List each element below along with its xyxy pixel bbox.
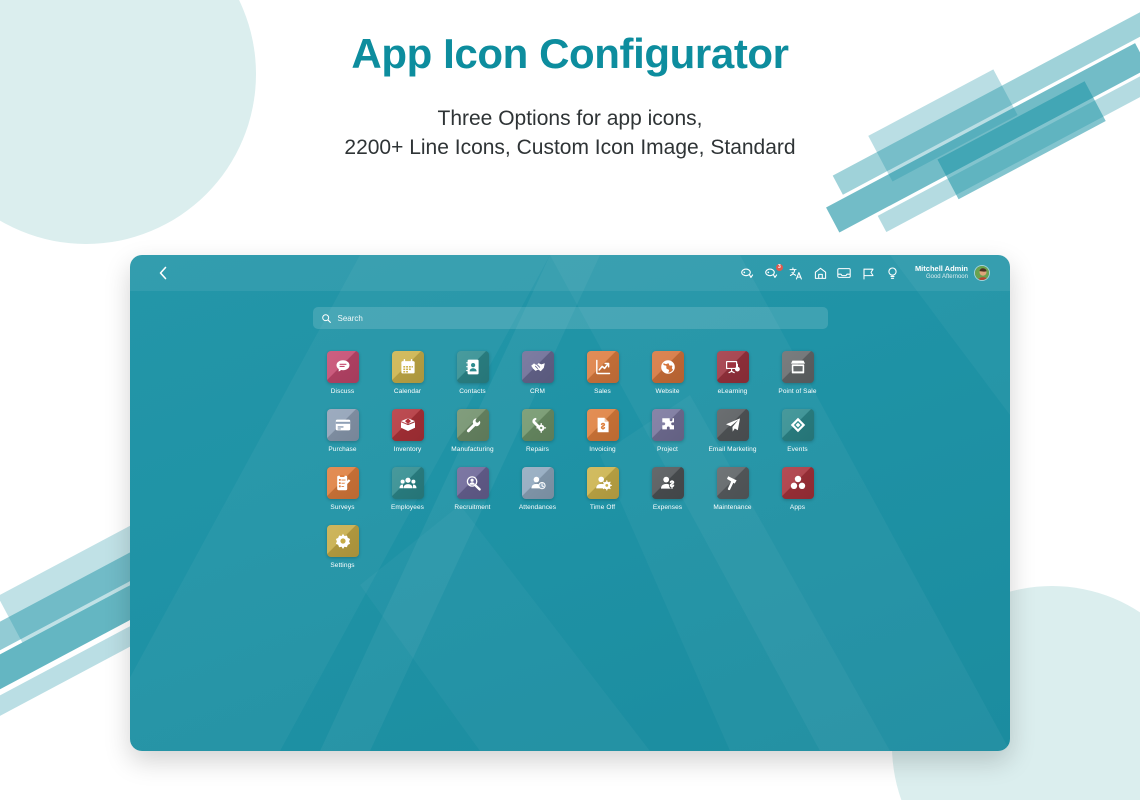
- app-crm[interactable]: CRM: [505, 351, 570, 395]
- invoicing-icon[interactable]: [587, 409, 619, 441]
- app-surveys[interactable]: Surveys: [310, 467, 375, 511]
- app-attendances[interactable]: Attendances: [505, 467, 570, 511]
- app-time-off[interactable]: Time Off: [570, 467, 635, 511]
- page-subtitle: Three Options for app icons, 2200+ Line …: [0, 104, 1140, 162]
- app-label: Calendar: [394, 388, 421, 395]
- app-employees[interactable]: Employees: [375, 467, 440, 511]
- expenses-icon[interactable]: [652, 467, 684, 499]
- app-point-of-sale[interactable]: Point of Sale: [765, 351, 830, 395]
- settings-icon[interactable]: [327, 525, 359, 557]
- app-label: Apps: [790, 504, 805, 511]
- maintenance-icon[interactable]: [717, 467, 749, 499]
- project-icon[interactable]: [652, 409, 684, 441]
- recruitment-icon[interactable]: [457, 467, 489, 499]
- app-label: Invoicing: [589, 446, 616, 453]
- avatar[interactable]: [974, 265, 990, 281]
- sales-icon[interactable]: [587, 351, 619, 383]
- app-window: 3: [130, 255, 1010, 751]
- page-root: App Icon Configurator Three Options for …: [0, 0, 1140, 800]
- app-label: Inventory: [394, 446, 422, 453]
- translate-icon[interactable]: [789, 266, 804, 281]
- app-label: Discuss: [331, 388, 354, 395]
- messages-icon[interactable]: [741, 266, 756, 281]
- purchase-icon[interactable]: [327, 409, 359, 441]
- app-contacts[interactable]: Contacts: [440, 351, 505, 395]
- signal-icon[interactable]: [861, 266, 876, 281]
- window-topbar: 3: [130, 255, 1010, 291]
- app-email-marketing[interactable]: Email Marketing: [700, 409, 765, 453]
- app-label: Settings: [330, 562, 354, 569]
- app-sales[interactable]: Sales: [570, 351, 635, 395]
- email-marketing-icon[interactable]: [717, 409, 749, 441]
- app-label: Attendances: [519, 504, 556, 511]
- app-maintenance[interactable]: Maintenance: [700, 467, 765, 511]
- crm-icon[interactable]: [522, 351, 554, 383]
- app-apps[interactable]: Apps: [765, 467, 830, 511]
- app-label: Contacts: [459, 388, 485, 395]
- app-label: Website: [655, 388, 679, 395]
- app-recruitment[interactable]: Recruitment: [440, 467, 505, 511]
- inbox-icon[interactable]: [837, 266, 852, 281]
- app-calendar[interactable]: Calendar: [375, 351, 440, 395]
- app-website[interactable]: Website: [635, 351, 700, 395]
- discuss-icon[interactable]: [327, 351, 359, 383]
- app-label: Purchase: [328, 446, 356, 453]
- app-label: Surveys: [330, 504, 354, 511]
- app-label: Recruitment: [454, 504, 490, 511]
- search-icon: [322, 314, 331, 323]
- events-icon[interactable]: [782, 409, 814, 441]
- inventory-icon[interactable]: [392, 409, 424, 441]
- app-label: Events: [787, 446, 807, 453]
- topbar-icon-tray: 3: [741, 265, 1000, 281]
- app-label: CRM: [530, 388, 545, 395]
- app-label: Time Off: [590, 504, 615, 511]
- apps-icon[interactable]: [782, 467, 814, 499]
- shop-icon[interactable]: [813, 266, 828, 281]
- app-grid: DiscussCalendarContactsCRMSalesWebsiteeL…: [310, 351, 830, 569]
- app-repairs[interactable]: Repairs: [505, 409, 570, 453]
- contacts-icon[interactable]: [457, 351, 489, 383]
- activities-icon[interactable]: 3: [765, 266, 780, 281]
- app-label: Expenses: [653, 504, 682, 511]
- point-of-sale-icon[interactable]: [782, 351, 814, 383]
- app-invoicing[interactable]: Invoicing: [570, 409, 635, 453]
- app-label: Email Marketing: [708, 446, 756, 453]
- back-button[interactable]: [154, 264, 172, 282]
- surveys-icon[interactable]: [327, 467, 359, 499]
- subtitle-line-2: 2200+ Line Icons, Custom Icon Image, Sta…: [0, 133, 1140, 162]
- elearning-icon[interactable]: [717, 351, 749, 383]
- app-label: Project: [657, 446, 678, 453]
- page-title: App Icon Configurator: [0, 30, 1140, 78]
- search-row: Search: [130, 291, 1010, 329]
- activities-badge: 3: [776, 264, 783, 271]
- user-name: Mitchell Admin: [915, 265, 968, 274]
- search-placeholder: Search: [338, 314, 363, 323]
- search-input[interactable]: Search: [313, 307, 828, 329]
- app-label: Repairs: [526, 446, 549, 453]
- app-events[interactable]: Events: [765, 409, 830, 453]
- calendar-icon[interactable]: [392, 351, 424, 383]
- website-icon[interactable]: [652, 351, 684, 383]
- app-label: eLearning: [718, 388, 748, 395]
- attendances-icon[interactable]: [522, 467, 554, 499]
- app-settings[interactable]: Settings: [310, 525, 375, 569]
- tips-icon[interactable]: [885, 266, 900, 281]
- app-elearning[interactable]: eLearning: [700, 351, 765, 395]
- subtitle-line-1: Three Options for app icons,: [0, 104, 1140, 133]
- user-text: Mitchell Admin Good Afternoon: [915, 265, 968, 281]
- app-label: Maintenance: [713, 504, 751, 511]
- app-label: Sales: [594, 388, 611, 395]
- app-purchase[interactable]: Purchase: [310, 409, 375, 453]
- app-discuss[interactable]: Discuss: [310, 351, 375, 395]
- manufacturing-icon[interactable]: [457, 409, 489, 441]
- app-expenses[interactable]: Expenses: [635, 467, 700, 511]
- app-manufacturing[interactable]: Manufacturing: [440, 409, 505, 453]
- app-label: Point of Sale: [778, 388, 816, 395]
- time-off-icon[interactable]: [587, 467, 619, 499]
- app-inventory[interactable]: Inventory: [375, 409, 440, 453]
- user-greeting: Good Afternoon: [915, 274, 968, 281]
- app-label: Employees: [391, 504, 424, 511]
- app-project[interactable]: Project: [635, 409, 700, 453]
- employees-icon[interactable]: [392, 467, 424, 499]
- repairs-icon[interactable]: [522, 409, 554, 441]
- app-label: Manufacturing: [451, 446, 494, 453]
- user-menu[interactable]: Mitchell Admin Good Afternoon: [915, 265, 990, 281]
